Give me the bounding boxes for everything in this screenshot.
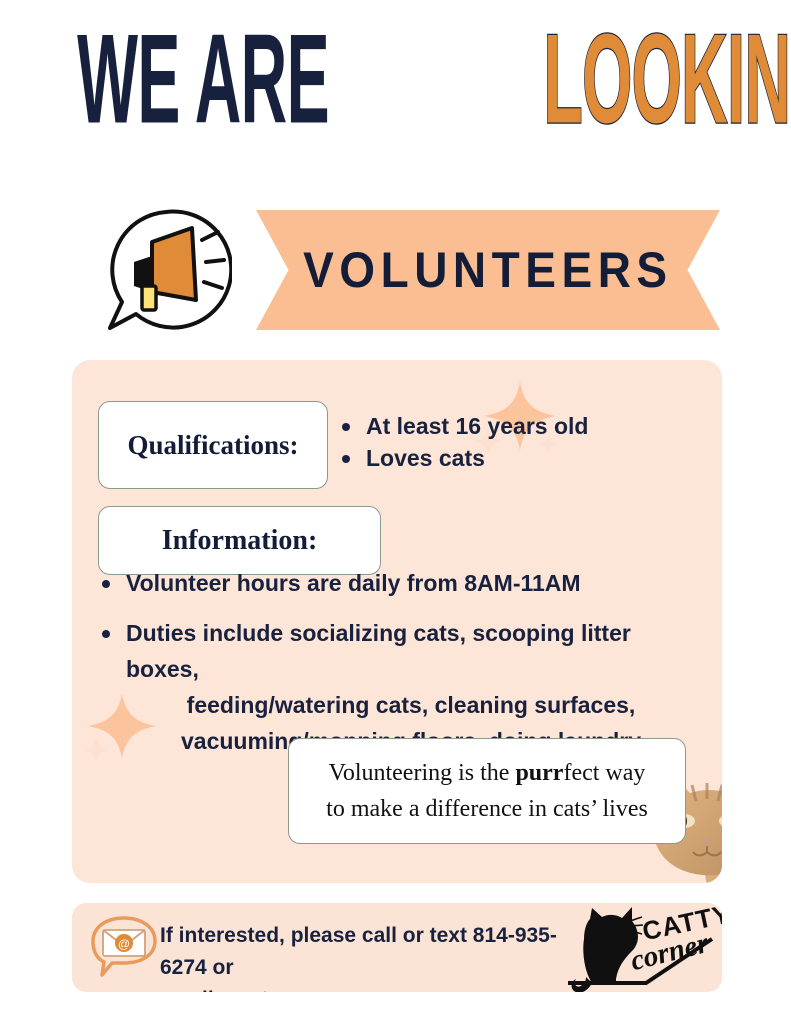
volunteers-banner: VOLUNTEERS xyxy=(256,210,720,330)
catty-corner-logo: CATTY corner xyxy=(562,905,722,992)
contact-footer: @ If interested, please call or text 814… xyxy=(72,903,722,992)
list-item: Loves cats xyxy=(338,442,668,474)
poster-canvas: WE ARELOOKING FOR VOLUNTEERS xyxy=(0,0,791,1023)
quote-line-1: Volunteering is the purrfect way xyxy=(329,755,646,791)
list-item: At least 16 years old xyxy=(338,410,668,442)
megaphone-icon xyxy=(96,206,232,334)
quote-box: Volunteering is the purrfect way to make… xyxy=(288,738,686,844)
quote-line-2: to make a difference in cats’ lives xyxy=(326,791,648,827)
page-title: WE ARELOOKING FOR xyxy=(0,28,791,148)
main-panel: Qualifications: At least 16 years old Lo… xyxy=(72,360,722,883)
list-item-line: Duties include socializing cats, scoopin… xyxy=(126,615,696,687)
headline-part-2: LOOKING FOR xyxy=(543,17,791,144)
qualifications-heading: Qualifications: xyxy=(127,430,298,461)
qualifications-list: At least 16 years old Loves cats xyxy=(338,410,668,474)
qualifications-heading-box: Qualifications: xyxy=(98,401,328,489)
quote-line-1-post: fect way xyxy=(563,760,645,786)
list-item: Volunteer hours are daily from 8AM-11AM xyxy=(96,565,696,601)
svg-text:@: @ xyxy=(118,937,130,951)
contact-text: If interested, please call or text 814-9… xyxy=(160,920,580,992)
information-heading: Information: xyxy=(162,525,318,557)
quote-line-1-pre: Volunteering is the xyxy=(329,760,516,786)
headline-part-1: WE ARE xyxy=(77,17,329,144)
banner-label: VOLUNTEERS xyxy=(303,241,673,299)
contact-line-1: If interested, please call or text 814-9… xyxy=(160,920,580,984)
quote-bold-word: purr xyxy=(515,760,563,786)
email-bubble-icon: @ xyxy=(90,915,158,979)
contact-line-2: email us at cattycorneraltoona@gmail.com xyxy=(160,984,580,992)
